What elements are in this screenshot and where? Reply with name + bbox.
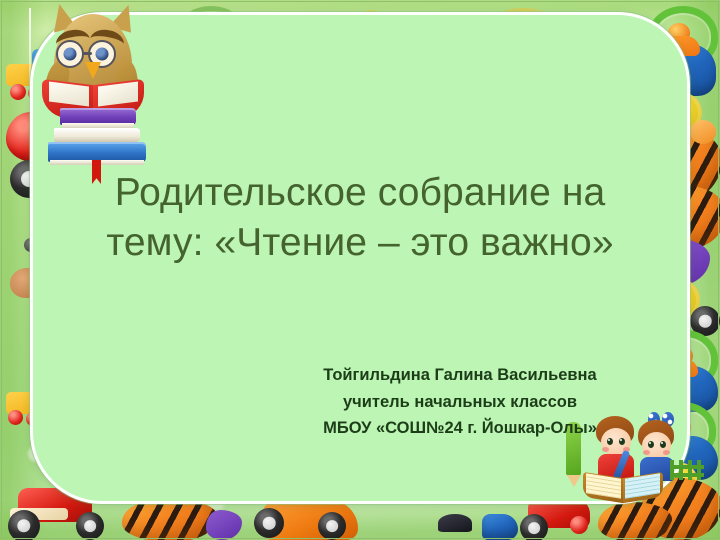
owl-pupil-icon (96, 48, 109, 61)
toy-ball-icon (570, 516, 588, 534)
toy-wheel-icon (76, 512, 104, 540)
owl-beak-icon (85, 62, 101, 79)
toy-wheel-icon (520, 514, 548, 540)
tiger-ear-icon (690, 120, 716, 144)
presenter-name: Тойгильдина Галина Васильевна (248, 362, 672, 389)
toy-hat-icon (438, 514, 472, 532)
kid-cheek-icon (663, 450, 670, 455)
page-title: Родительское собрание на тему: «Чтение –… (60, 168, 660, 268)
tiger-plush-icon (598, 502, 672, 540)
owl-eye-icon (56, 40, 84, 68)
presenter-role: учитель начальных классов (248, 389, 672, 416)
toy-wheel-icon (318, 512, 346, 540)
kid-cheek-icon (643, 450, 650, 455)
open-book-icon (584, 470, 662, 500)
toy-wheel-icon (8, 510, 40, 540)
book-stack-white-icon (54, 128, 140, 142)
presenter-school: МБОУ «СОШ№24 г. Йошкар-Олы» (248, 415, 672, 442)
owl-glasses-icon (82, 52, 92, 55)
presenter-credits: Тойгильдина Галина Васильевна учитель на… (248, 362, 672, 442)
toy-ball-icon (8, 410, 23, 425)
ride-on-toy-icon (482, 514, 518, 540)
owl-reading-icon (16, 4, 166, 174)
fence-icon (670, 460, 704, 480)
toy-wheel-icon (254, 508, 284, 538)
owl-pupil-icon (64, 48, 77, 61)
book-stack-blue-icon (48, 142, 146, 162)
tiger-plush-icon (122, 498, 218, 540)
presentation-slide: Родительское собрание на тему: «Чтение –… (0, 0, 720, 540)
kid-cheek-icon (602, 447, 609, 452)
